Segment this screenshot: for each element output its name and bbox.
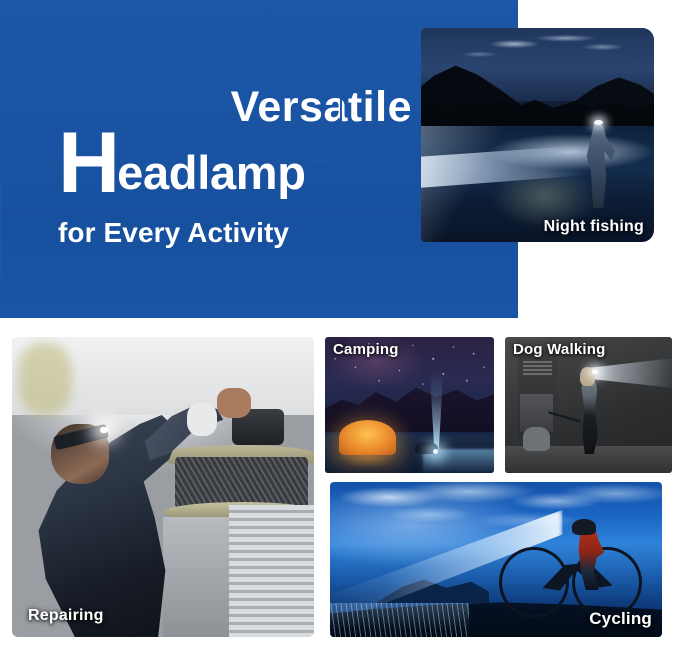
- wall-vent: [523, 361, 551, 375]
- promo-graphic: Versatile H eadlamp for Every Activity N…: [0, 0, 679, 645]
- tile-dog-walking: Dog Walking: [505, 337, 672, 473]
- window-blinds: [229, 505, 314, 637]
- photo-night-fishing: [421, 28, 654, 242]
- caption-dog-walking: Dog Walking: [513, 341, 605, 358]
- hero-initial-h: H: [58, 127, 119, 201]
- caption-cycling: Cycling: [589, 609, 652, 629]
- hero-text-block: Versatile H eadlamp for Every Activity: [58, 86, 418, 249]
- worker-hand: [217, 388, 250, 418]
- corner-bracket-top-right: [230, 5, 273, 77]
- tile-camping: Camping: [325, 337, 494, 473]
- headlamp-light-icon: [100, 427, 108, 433]
- corner-bracket-bottom-left: [0, 180, 32, 300]
- corner-bracket-bottom-right: [310, 76, 342, 162]
- work-glove: [187, 403, 217, 436]
- tile-cycling: Cycling: [330, 482, 662, 637]
- dog-figure: [523, 427, 550, 451]
- wall-stain: [18, 343, 72, 415]
- cyclist-helmet: [572, 519, 595, 535]
- caption-night-fishing: Night fishing: [544, 218, 644, 236]
- hero-line-headlamp: H eadlamp: [58, 127, 418, 201]
- hero-subtitle: for Every Activity: [58, 217, 418, 249]
- tile-repairing: Repairing: [12, 337, 314, 637]
- photo-repairing: [12, 337, 314, 637]
- tile-night-fishing: Night fishing: [421, 28, 654, 242]
- caption-repairing: Repairing: [28, 607, 104, 625]
- lit-grass: [330, 603, 469, 637]
- headlamp-light-icon: [592, 370, 598, 374]
- fan-grille: [175, 457, 308, 508]
- caption-camping: Camping: [333, 341, 399, 358]
- tent: [339, 420, 396, 455]
- headlamp-light-icon: [594, 120, 603, 125]
- hero-headline-rest: eadlamp: [117, 149, 306, 196]
